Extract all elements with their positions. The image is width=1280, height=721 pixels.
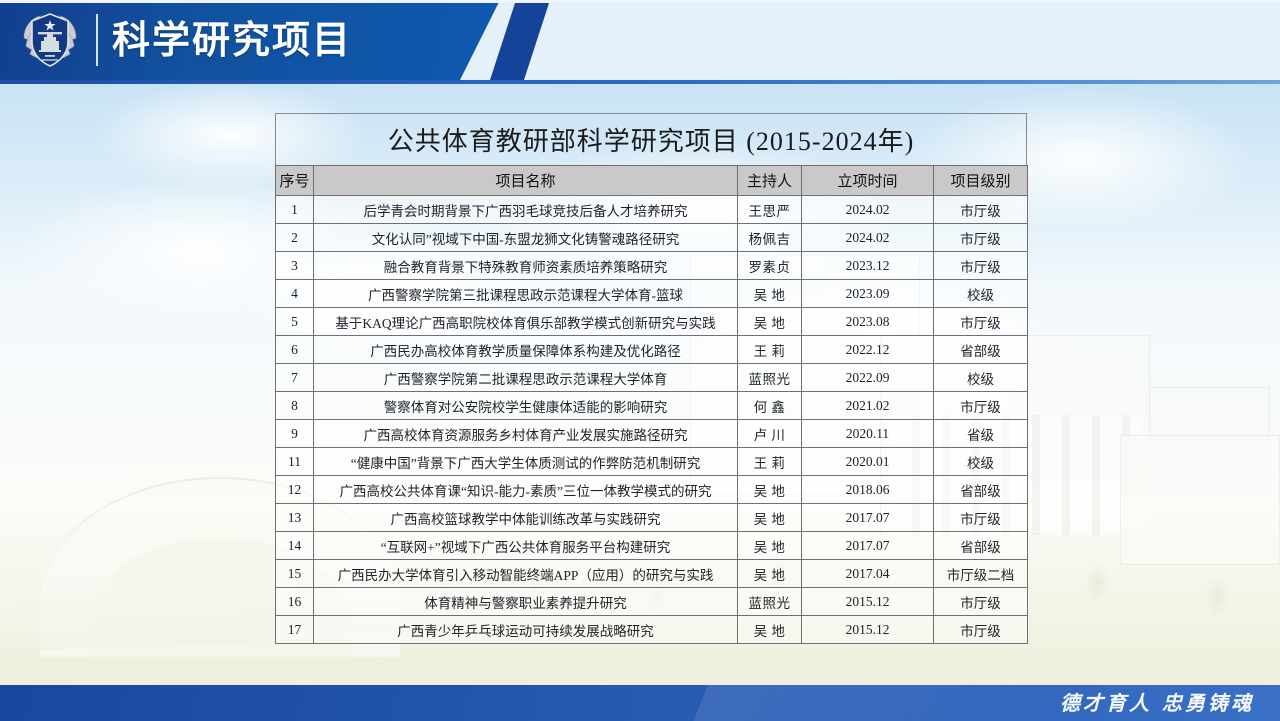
cell-no: 2 bbox=[276, 224, 314, 252]
cell-no: 14 bbox=[276, 532, 314, 560]
cell-leader: 吴 地 bbox=[738, 560, 802, 588]
tree-shape bbox=[1200, 569, 1234, 625]
cell-leader: 吴 地 bbox=[738, 504, 802, 532]
table-header-row: 序号 项目名称 主持人 立项时间 项目级别 bbox=[276, 166, 1028, 196]
cell-project-name: 文化认同”视域下中国-东盟龙狮文化铸警魂路径研究 bbox=[314, 224, 738, 252]
cell-date: 2020.11 bbox=[802, 420, 934, 448]
cell-date: 2022.12 bbox=[802, 336, 934, 364]
table-row: 14“互联网+”视域下广西公共体育服务平台构建研究吴 地2017.07省部级 bbox=[276, 532, 1028, 560]
table-row: 6广西民办高校体育教学质量保障体系构建及优化路径王 莉2022.12省部级 bbox=[276, 336, 1028, 364]
cell-date: 2017.04 bbox=[802, 560, 934, 588]
tree-shape bbox=[1080, 555, 1114, 611]
cell-date: 2020.01 bbox=[802, 448, 934, 476]
cell-no: 17 bbox=[276, 616, 314, 644]
table-row: 15广西民办大学体育引入移动智能终端APP（应用）的研究与实践吴 地2017.0… bbox=[276, 560, 1028, 588]
cell-level: 市厅级 bbox=[934, 504, 1028, 532]
column-header-name: 项目名称 bbox=[314, 166, 738, 196]
column-header-level: 项目级别 bbox=[934, 166, 1028, 196]
cell-project-name: 融合教育背景下特殊教育师资素质培养策略研究 bbox=[314, 252, 738, 280]
cell-level: 市厅级 bbox=[934, 588, 1028, 616]
cell-level: 市厅级 bbox=[934, 616, 1028, 644]
table-header: 序号 项目名称 主持人 立项时间 项目级别 bbox=[276, 166, 1028, 196]
cell-project-name: 广西民办大学体育引入移动智能终端APP（应用）的研究与实践 bbox=[314, 560, 738, 588]
cell-level: 市厅级 bbox=[934, 308, 1028, 336]
cell-level: 省部级 bbox=[934, 336, 1028, 364]
cell-leader: 吴 地 bbox=[738, 280, 802, 308]
cell-leader: 吴 地 bbox=[738, 532, 802, 560]
police-academy-emblem-icon bbox=[18, 8, 82, 72]
cell-date: 2017.07 bbox=[802, 532, 934, 560]
cell-level: 校级 bbox=[934, 280, 1028, 308]
cell-project-name: 体育精神与警察职业素养提升研究 bbox=[314, 588, 738, 616]
building-shape bbox=[1120, 435, 1280, 565]
table-row: 13广西高校篮球教学中体能训练改革与实践研究吴 地2017.07市厅级 bbox=[276, 504, 1028, 532]
cell-date: 2015.12 bbox=[802, 616, 934, 644]
cell-project-name: 警察体育对公安院校学生健康体适能的影响研究 bbox=[314, 392, 738, 420]
cell-date: 2022.09 bbox=[802, 364, 934, 392]
school-motto: 德才育人 忠勇铸魂 bbox=[1060, 687, 1254, 719]
table-row: 5基于KAQ理论广西高职院校体育俱乐部教学模式创新研究与实践吴 地2023.08… bbox=[276, 308, 1028, 336]
cell-leader: 蓝照光 bbox=[738, 588, 802, 616]
cell-project-name: 广西高校体育资源服务乡村体育产业发展实施路径研究 bbox=[314, 420, 738, 448]
cell-no: 6 bbox=[276, 336, 314, 364]
project-table-block: 公共体育教研部科学研究项目 (2015-2024年) 序号 项目名称 主持人 立… bbox=[275, 113, 1027, 644]
table-row: 4广西警察学院第三批课程思政示范课程大学体育-篮球吴 地2023.09校级 bbox=[276, 280, 1028, 308]
cell-level: 省部级 bbox=[934, 532, 1028, 560]
cell-project-name: “健康中国”背景下广西大学生体质测试的作弊防范机制研究 bbox=[314, 448, 738, 476]
table-row: 7广西警察学院第二批课程思政示范课程大学体育蓝照光2022.09校级 bbox=[276, 364, 1028, 392]
cell-no: 13 bbox=[276, 504, 314, 532]
cell-date: 2024.02 bbox=[802, 196, 934, 224]
slide-footer: 德才育人 忠勇铸魂 bbox=[0, 685, 1280, 721]
cell-no: 12 bbox=[276, 476, 314, 504]
cell-date: 2015.12 bbox=[802, 588, 934, 616]
table-row: 11“健康中国”背景下广西大学生体质测试的作弊防范机制研究王 莉2020.01校… bbox=[276, 448, 1028, 476]
cell-project-name: 广西警察学院第三批课程思政示范课程大学体育-篮球 bbox=[314, 280, 738, 308]
cell-project-name: “互联网+”视域下广西公共体育服务平台构建研究 bbox=[314, 532, 738, 560]
cell-no: 4 bbox=[276, 280, 314, 308]
cell-no: 7 bbox=[276, 364, 314, 392]
cell-no: 5 bbox=[276, 308, 314, 336]
cell-level: 校级 bbox=[934, 364, 1028, 392]
cell-level: 市厅级二档 bbox=[934, 560, 1028, 588]
cell-leader: 王 莉 bbox=[738, 336, 802, 364]
table-title: 公共体育教研部科学研究项目 (2015-2024年) bbox=[275, 113, 1027, 165]
cell-no: 15 bbox=[276, 560, 314, 588]
column-header-date: 立项时间 bbox=[802, 166, 934, 196]
cell-level: 省级 bbox=[934, 420, 1028, 448]
cell-no: 16 bbox=[276, 588, 314, 616]
cell-level: 市厅级 bbox=[934, 252, 1028, 280]
table-row: 9广西高校体育资源服务乡村体育产业发展实施路径研究卢 川2020.11省级 bbox=[276, 420, 1028, 448]
cell-leader: 吴 地 bbox=[738, 476, 802, 504]
cell-no: 11 bbox=[276, 448, 314, 476]
header-divider bbox=[96, 14, 98, 66]
cell-project-name: 广西警察学院第二批课程思政示范课程大学体育 bbox=[314, 364, 738, 392]
cell-no: 1 bbox=[276, 196, 314, 224]
table-row: 16体育精神与警察职业素养提升研究蓝照光2015.12市厅级 bbox=[276, 588, 1028, 616]
cell-no: 9 bbox=[276, 420, 314, 448]
cell-date: 2023.08 bbox=[802, 308, 934, 336]
cell-leader: 蓝照光 bbox=[738, 364, 802, 392]
column-header-no: 序号 bbox=[276, 166, 314, 196]
table-row: 17广西青少年乒乓球运动可持续发展战略研究吴 地2015.12市厅级 bbox=[276, 616, 1028, 644]
cell-project-name: 广西民办高校体育教学质量保障体系构建及优化路径 bbox=[314, 336, 738, 364]
cell-leader: 王思严 bbox=[738, 196, 802, 224]
header-slash-accent bbox=[490, 0, 550, 80]
slide-header: 科学研究项目 bbox=[0, 0, 1280, 86]
cell-date: 2021.02 bbox=[802, 392, 934, 420]
cell-level: 市厅级 bbox=[934, 392, 1028, 420]
cell-no: 8 bbox=[276, 392, 314, 420]
cell-project-name: 广西高校公共体育课“知识-能力-素质”三位一体教学模式的研究 bbox=[314, 476, 738, 504]
cell-date: 2023.09 bbox=[802, 280, 934, 308]
cell-no: 3 bbox=[276, 252, 314, 280]
table-row: 2文化认同”视域下中国-东盟龙狮文化铸警魂路径研究杨佩吉2024.02市厅级 bbox=[276, 224, 1028, 252]
cell-project-name: 后学青会时期背景下广西羽毛球竞技后备人才培养研究 bbox=[314, 196, 738, 224]
table-row: 8警察体育对公安院校学生健康体适能的影响研究何 鑫2021.02市厅级 bbox=[276, 392, 1028, 420]
cell-level: 市厅级 bbox=[934, 224, 1028, 252]
cell-level: 校级 bbox=[934, 448, 1028, 476]
header-bottom-rule bbox=[0, 80, 1280, 84]
cell-leader: 卢 川 bbox=[738, 420, 802, 448]
cell-date: 2017.07 bbox=[802, 504, 934, 532]
cell-project-name: 基于KAQ理论广西高职院校体育俱乐部教学模式创新研究与实践 bbox=[314, 308, 738, 336]
cell-date: 2023.12 bbox=[802, 252, 934, 280]
cell-leader: 杨佩吉 bbox=[738, 224, 802, 252]
cell-leader: 王 莉 bbox=[738, 448, 802, 476]
cell-date: 2018.06 bbox=[802, 476, 934, 504]
cell-project-name: 广西青少年乒乓球运动可持续发展战略研究 bbox=[314, 616, 738, 644]
cell-date: 2024.02 bbox=[802, 224, 934, 252]
cell-leader: 何 鑫 bbox=[738, 392, 802, 420]
table-row: 1后学青会时期背景下广西羽毛球竞技后备人才培养研究王思严2024.02市厅级 bbox=[276, 196, 1028, 224]
header-top-edge bbox=[0, 0, 1280, 3]
cell-leader: 吴 地 bbox=[738, 616, 802, 644]
research-projects-table: 序号 项目名称 主持人 立项时间 项目级别 1后学青会时期背景下广西羽毛球竞技后… bbox=[275, 165, 1028, 644]
table-row: 12广西高校公共体育课“知识-能力-素质”三位一体教学模式的研究吴 地2018.… bbox=[276, 476, 1028, 504]
cell-leader: 罗素贞 bbox=[738, 252, 802, 280]
table-row: 3融合教育背景下特殊教育师资素质培养策略研究罗素贞2023.12市厅级 bbox=[276, 252, 1028, 280]
cell-project-name: 广西高校篮球教学中体能训练改革与实践研究 bbox=[314, 504, 738, 532]
table-body: 1后学青会时期背景下广西羽毛球竞技后备人才培养研究王思严2024.02市厅级2文… bbox=[276, 196, 1028, 644]
cell-leader: 吴 地 bbox=[738, 308, 802, 336]
page-title: 科学研究项目 bbox=[112, 14, 352, 66]
column-header-leader: 主持人 bbox=[738, 166, 802, 196]
cell-level: 省部级 bbox=[934, 476, 1028, 504]
cell-level: 市厅级 bbox=[934, 196, 1028, 224]
